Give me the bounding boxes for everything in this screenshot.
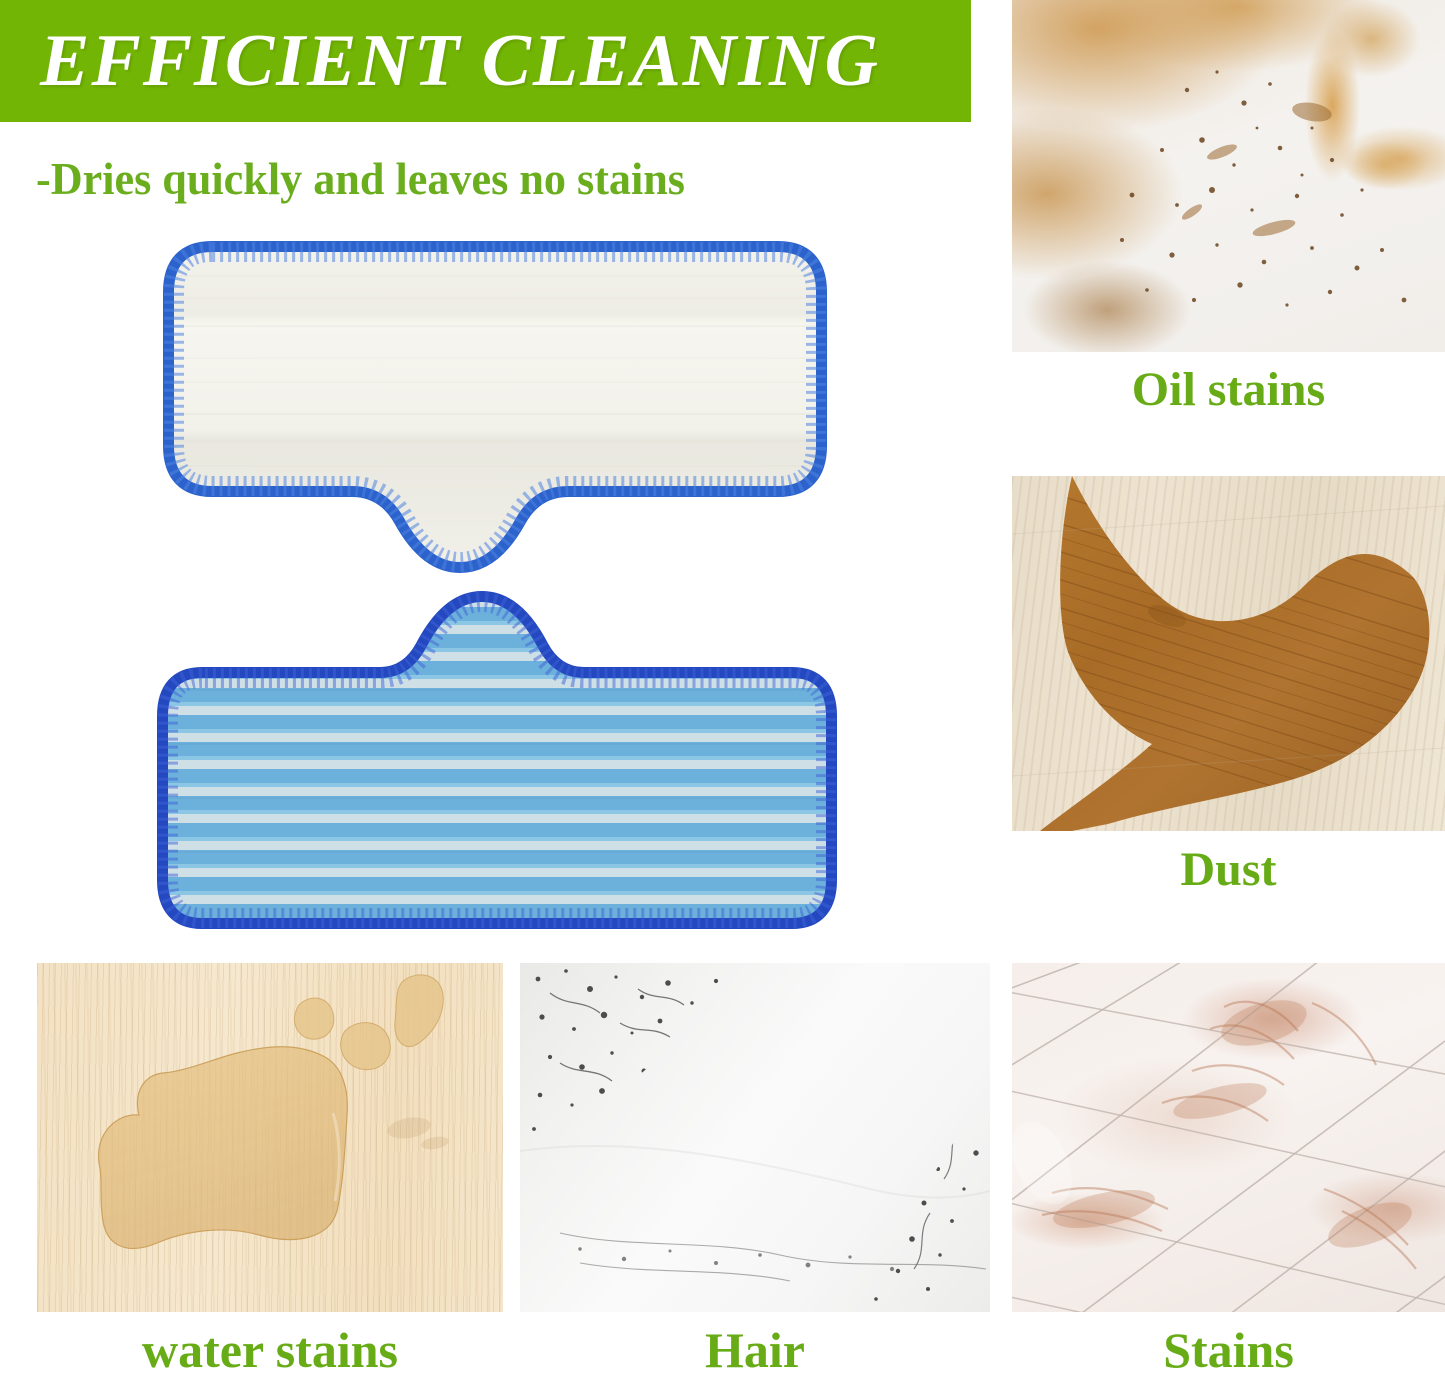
dust-free-wood-swipe (1012, 476, 1445, 831)
tile-grout-lines (1012, 963, 1445, 1312)
hair-photo (520, 963, 990, 1312)
dust-photo (1012, 476, 1445, 831)
oil-stains-photo (1012, 0, 1445, 352)
blue-mop-pad (152, 580, 842, 940)
infographic-canvas: EFFICIENT CLEANING -Dries quickly and le… (0, 0, 1445, 1381)
cell-label-hair: Hair (520, 1321, 990, 1379)
cell-dust: Dust (1012, 476, 1445, 906)
cell-label-stains: Stains (1012, 1321, 1445, 1379)
cell-hair: Hair (520, 963, 990, 1381)
cell-label-oil-stains: Oil stains (1012, 362, 1445, 417)
white-mop-pad (160, 236, 830, 576)
subtitle-text: -Dries quickly and leaves no stains (36, 152, 685, 205)
cell-label-water-stains: water stains (37, 1321, 503, 1379)
header-banner: EFFICIENT CLEANING (0, 0, 971, 122)
water-stains-photo (37, 963, 503, 1312)
cell-water-stains: water stains (37, 963, 503, 1381)
water-puddle (99, 1047, 348, 1249)
stains-photo (1012, 963, 1445, 1312)
page-title: EFFICIENT CLEANING (40, 19, 880, 104)
cell-oil-stains: Oil stains (1012, 0, 1445, 430)
cell-stains: Stains (1012, 963, 1445, 1381)
cell-label-dust: Dust (1012, 842, 1445, 897)
product-image-group (0, 228, 990, 958)
